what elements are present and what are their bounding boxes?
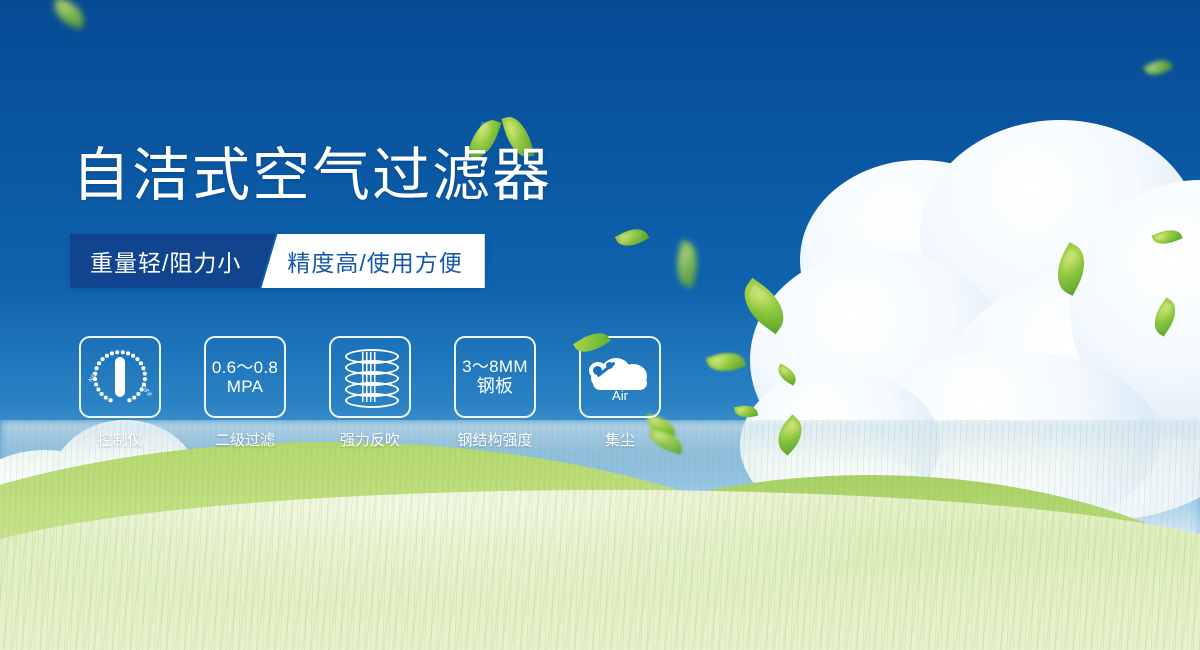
grass-texture (0, 420, 1200, 650)
feature-item-strong-backblow[interactable]: 强力反吹 (330, 336, 410, 450)
feature-label: 集尘 (605, 429, 635, 450)
feature-label: 强力反吹 (340, 429, 400, 450)
page-title: 自洁式空气过滤器 (72, 146, 552, 204)
steel-plate-text-icon: 3～8MM 钢板 (454, 336, 536, 418)
dial-needle-icon (115, 357, 125, 397)
pressure-text-icon: 0.6～0.8 MPA (204, 336, 286, 418)
pressure-value: 0.6～0.8 (212, 358, 278, 377)
filter-cartridge-icon (329, 336, 411, 418)
grass-field (0, 420, 1200, 650)
feature-item-controller[interactable]: NO OFF 控制仪 (80, 336, 160, 450)
product-banner: 自洁式空气过滤器 重量轻/阻力小 精度高/使用方便 NO OFF 控制仪 0.6… (0, 0, 1200, 650)
feature-item-two-stage-filter[interactable]: 0.6～0.8 MPA 二级过滤 (205, 336, 285, 450)
steel-plate-label: 钢板 (477, 376, 514, 396)
pressure-unit: MPA (227, 377, 263, 396)
feature-item-dust-collection[interactable]: Air 集尘 (580, 336, 660, 450)
steel-thickness: 3～8MM (462, 357, 528, 376)
feature-label: 钢结构强度 (457, 429, 532, 450)
dial-gauge-icon: NO OFF (79, 336, 161, 418)
feature-icon-list: NO OFF 控制仪 0.6～0.8 MPA 二级过滤 强力反吹 (80, 336, 660, 450)
feature-item-steel-strength[interactable]: 3～8MM 钢板 钢结构强度 (455, 336, 535, 450)
subtitle-badge-left: 重量轻/阻力小 (70, 234, 275, 288)
air-text: Air (589, 388, 651, 403)
subtitle-badge-bar: 重量轻/阻力小 精度高/使用方便 (70, 234, 485, 288)
feature-label: 二级过滤 (215, 429, 275, 450)
subtitle-badge-right: 精度高/使用方便 (261, 234, 484, 288)
feature-label: 控制仪 (97, 429, 142, 450)
air-cloud-icon: Air (579, 336, 661, 418)
